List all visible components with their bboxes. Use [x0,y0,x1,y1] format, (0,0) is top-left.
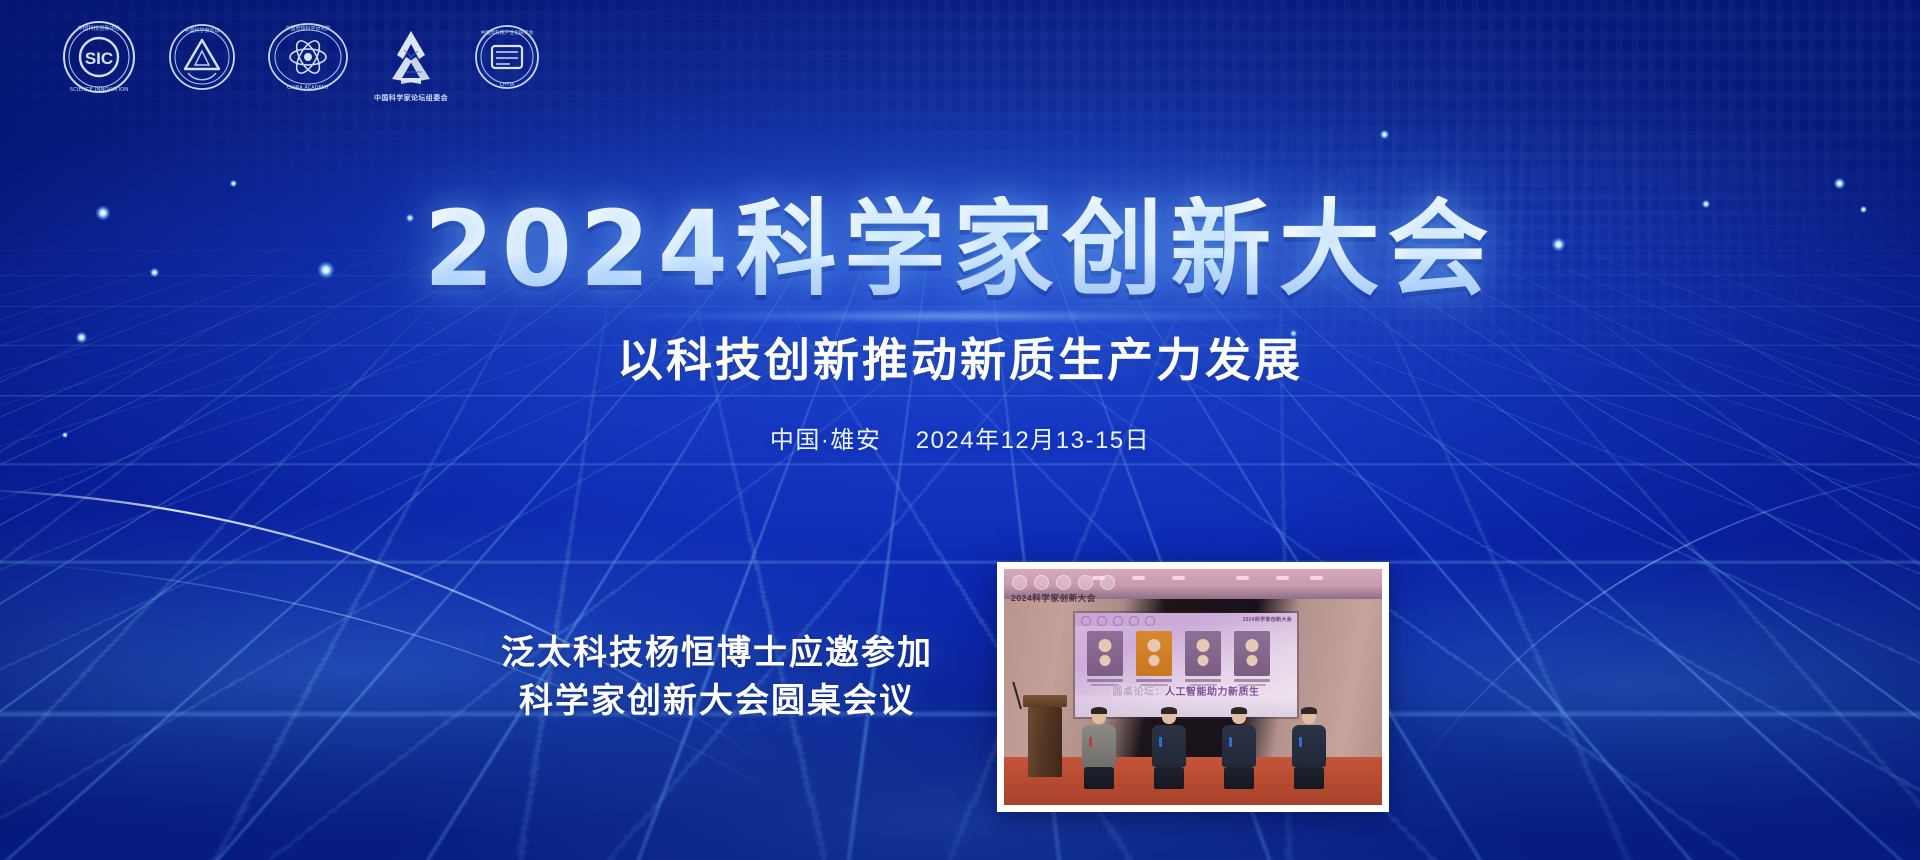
svg-text:中国管理科学研究院: 中国管理科学研究院 [285,25,330,32]
atom-seal-logo: 中国管理科学研究院 CHINA ACADEMY [266,20,350,94]
svg-text:中国高科技产业化研究会: 中国高科技产业化研究会 [481,29,534,36]
svg-text:SIC: SIC [85,49,113,68]
page-subtitle: 以科技创新推动新质生产力发展 [0,324,1920,390]
photo-screen-portraits [1087,631,1270,686]
event-location: 中国·雄安 [770,427,882,454]
photo-screen-icon-row [1081,616,1155,626]
photo-panelist [1152,709,1186,789]
shield-seal-logo: 中国高科技产业化研究会 CHTIA [472,22,542,92]
page-title: 2024科学家创新大会 [29,196,1891,302]
roundtable-photo-image: 2024科学家创新大会 2024科学家创新大会 圆桌论坛：人工智能助力新质生 [1004,569,1382,805]
photo-panelist [1222,709,1256,789]
photo-screen-brand: 2024科学家创新大会 [1243,616,1292,623]
photo-projection-screen: 2024科学家创新大会 圆桌论坛：人工智能助力新质生 [1075,613,1297,717]
svg-text:中国科技创新中心: 中国科技创新中心 [77,24,121,32]
roundtable-photo: 2024科学家创新大会 2024科学家创新大会 圆桌论坛：人工智能助力新质生 [997,562,1389,812]
caption-line-2: 科学家创新大会圆桌会议 [462,677,972,725]
photo-portrait [1136,631,1172,686]
svg-text:CHTIA: CHTIA [500,82,515,88]
photo-panelist [1292,709,1326,789]
poster-canvas: SIC 中国科技创新中心 SCIENCE INNOVATION 中国科学家论坛 [0,0,1920,860]
event-meta: 中国·雄安 2024年12月13-15日 [0,420,1920,455]
svg-text:SCIENCE INNOVATION: SCIENCE INNOVATION [70,87,129,93]
photo-portrait [1234,631,1270,686]
triangle-seal-logo: 中国科学家论坛 [166,21,238,93]
triangle-knot-logo-caption: 中国科学家论坛组委会 [374,93,448,103]
event-dates: 2024年12月13-15日 [916,427,1150,454]
photo-caption: 泛太科技杨恒博士应邀参加 科学家创新大会圆桌会议 [462,629,972,726]
svg-text:CHINA ACADEMY: CHINA ACADEMY [287,85,330,91]
caption-line-1: 泛太科技杨恒博士应邀参加 [462,629,972,677]
photo-portrait [1087,631,1123,686]
photo-panelist [1082,709,1116,789]
photo-podium [1028,707,1062,777]
sic-seal-logo: SIC 中国科技创新中心 SCIENCE INNOVATION [60,18,138,96]
photo-portrait [1185,631,1221,686]
photo-backdrop-logo-strip [1012,575,1115,590]
partner-logo-row: SIC 中国科技创新中心 SCIENCE INNOVATION 中国科学家论坛 [60,18,542,96]
svg-text:中国科学家论坛: 中国科学家论坛 [184,27,219,34]
triangle-knot-logo: 中国科学家论坛组委会 [378,24,444,90]
headline-block: 2024科学家创新大会 以科技创新推动新质生产力发展 中国·雄安 2024年12… [0,196,1920,455]
photo-backdrop-title: 2024科学家创新大会 [1011,592,1096,604]
